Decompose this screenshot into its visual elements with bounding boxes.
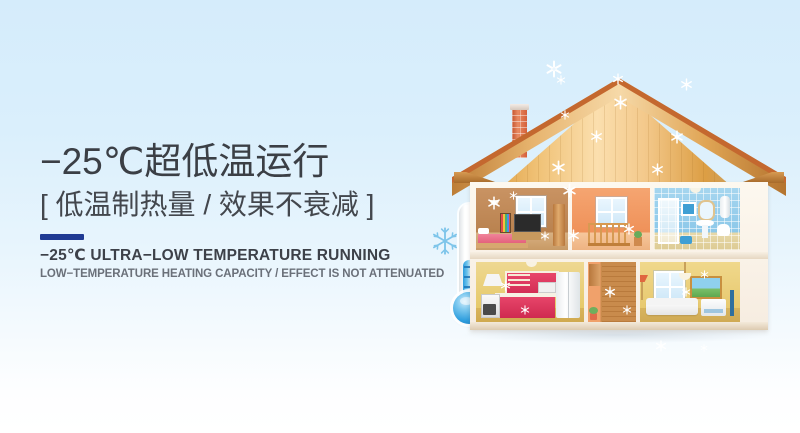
kitchen-oven-door	[483, 304, 496, 315]
living-floor-lamp	[641, 280, 643, 300]
bathroom-mirror	[698, 200, 715, 221]
nursery-plant	[634, 237, 642, 246]
living-cabinet	[701, 299, 726, 316]
headline-en: −25℃ ULTRA−LOW TEMPERATURE RUNNING	[40, 246, 440, 265]
bathroom-towel	[681, 202, 696, 216]
room-bathroom	[654, 188, 740, 250]
bathroom-ceiling-lamp	[690, 188, 701, 193]
base-divider	[470, 322, 768, 330]
subtitle-en: LOW−TEMPERATURE HEATING CAPACITY / EFFEC…	[40, 267, 440, 282]
house-body	[470, 182, 768, 330]
banner-stage: −25℃超低温运行 [ 低温制热量 / 效果不衰减 ] −25℃ ULTRA−L…	[0, 0, 800, 433]
bedroom-tv-stand	[512, 232, 541, 240]
page-title: −25℃超低温运行	[40, 140, 440, 184]
kitchen-fridge-split	[568, 272, 570, 318]
room-living	[640, 262, 740, 324]
headline-block: −25℃超低温运行 [ 低温制热量 / 效果不衰减 ] −25℃ ULTRA−L…	[40, 140, 440, 282]
floor-divider	[470, 252, 768, 259]
nursery-plant-leaves	[634, 231, 642, 238]
bedroom-door	[553, 204, 565, 246]
kitchen-countertop	[495, 293, 557, 297]
living-painting	[690, 276, 722, 299]
kitchen-counter	[497, 296, 555, 318]
room-nursery	[572, 188, 650, 250]
room-staircase-hall	[588, 262, 636, 324]
nursery-crib	[588, 223, 630, 246]
subtitle-cn: [ 低温制热量 / 效果不衰减 ]	[40, 187, 440, 223]
living-sofa-back	[646, 298, 698, 305]
kitchen-cabinet-shelves	[508, 274, 530, 288]
kitchen-microwave	[538, 282, 556, 293]
living-tv	[730, 290, 734, 316]
kitchen-range-hood	[483, 274, 503, 286]
living-cabinet-shelf	[704, 309, 723, 313]
hall-plant-leaves	[589, 307, 598, 314]
bedroom-tv	[514, 214, 541, 232]
bathroom-water-heater	[720, 196, 730, 218]
house-illustration	[452, 72, 786, 342]
hall-plant	[590, 313, 597, 320]
bathroom-sink-pedestal	[702, 225, 708, 238]
roof	[452, 72, 786, 194]
bathroom-toilet	[717, 224, 730, 236]
bathroom-shower	[658, 198, 679, 244]
accent-divider	[40, 234, 84, 240]
hall-door	[589, 264, 600, 286]
bedroom-bed-frame	[476, 243, 528, 248]
bedroom-books	[501, 214, 510, 232]
staircase	[602, 262, 636, 324]
bedroom-pillow	[478, 228, 489, 234]
room-bedroom	[476, 188, 568, 250]
snowflake-icon	[700, 344, 708, 352]
living-floor-lamp-shade	[640, 275, 648, 282]
bathroom-basket	[680, 236, 692, 244]
kitchen-ceiling-lamp	[526, 262, 537, 267]
bedroom-ceiling-lamp	[490, 200, 499, 205]
room-kitchen	[476, 262, 584, 324]
